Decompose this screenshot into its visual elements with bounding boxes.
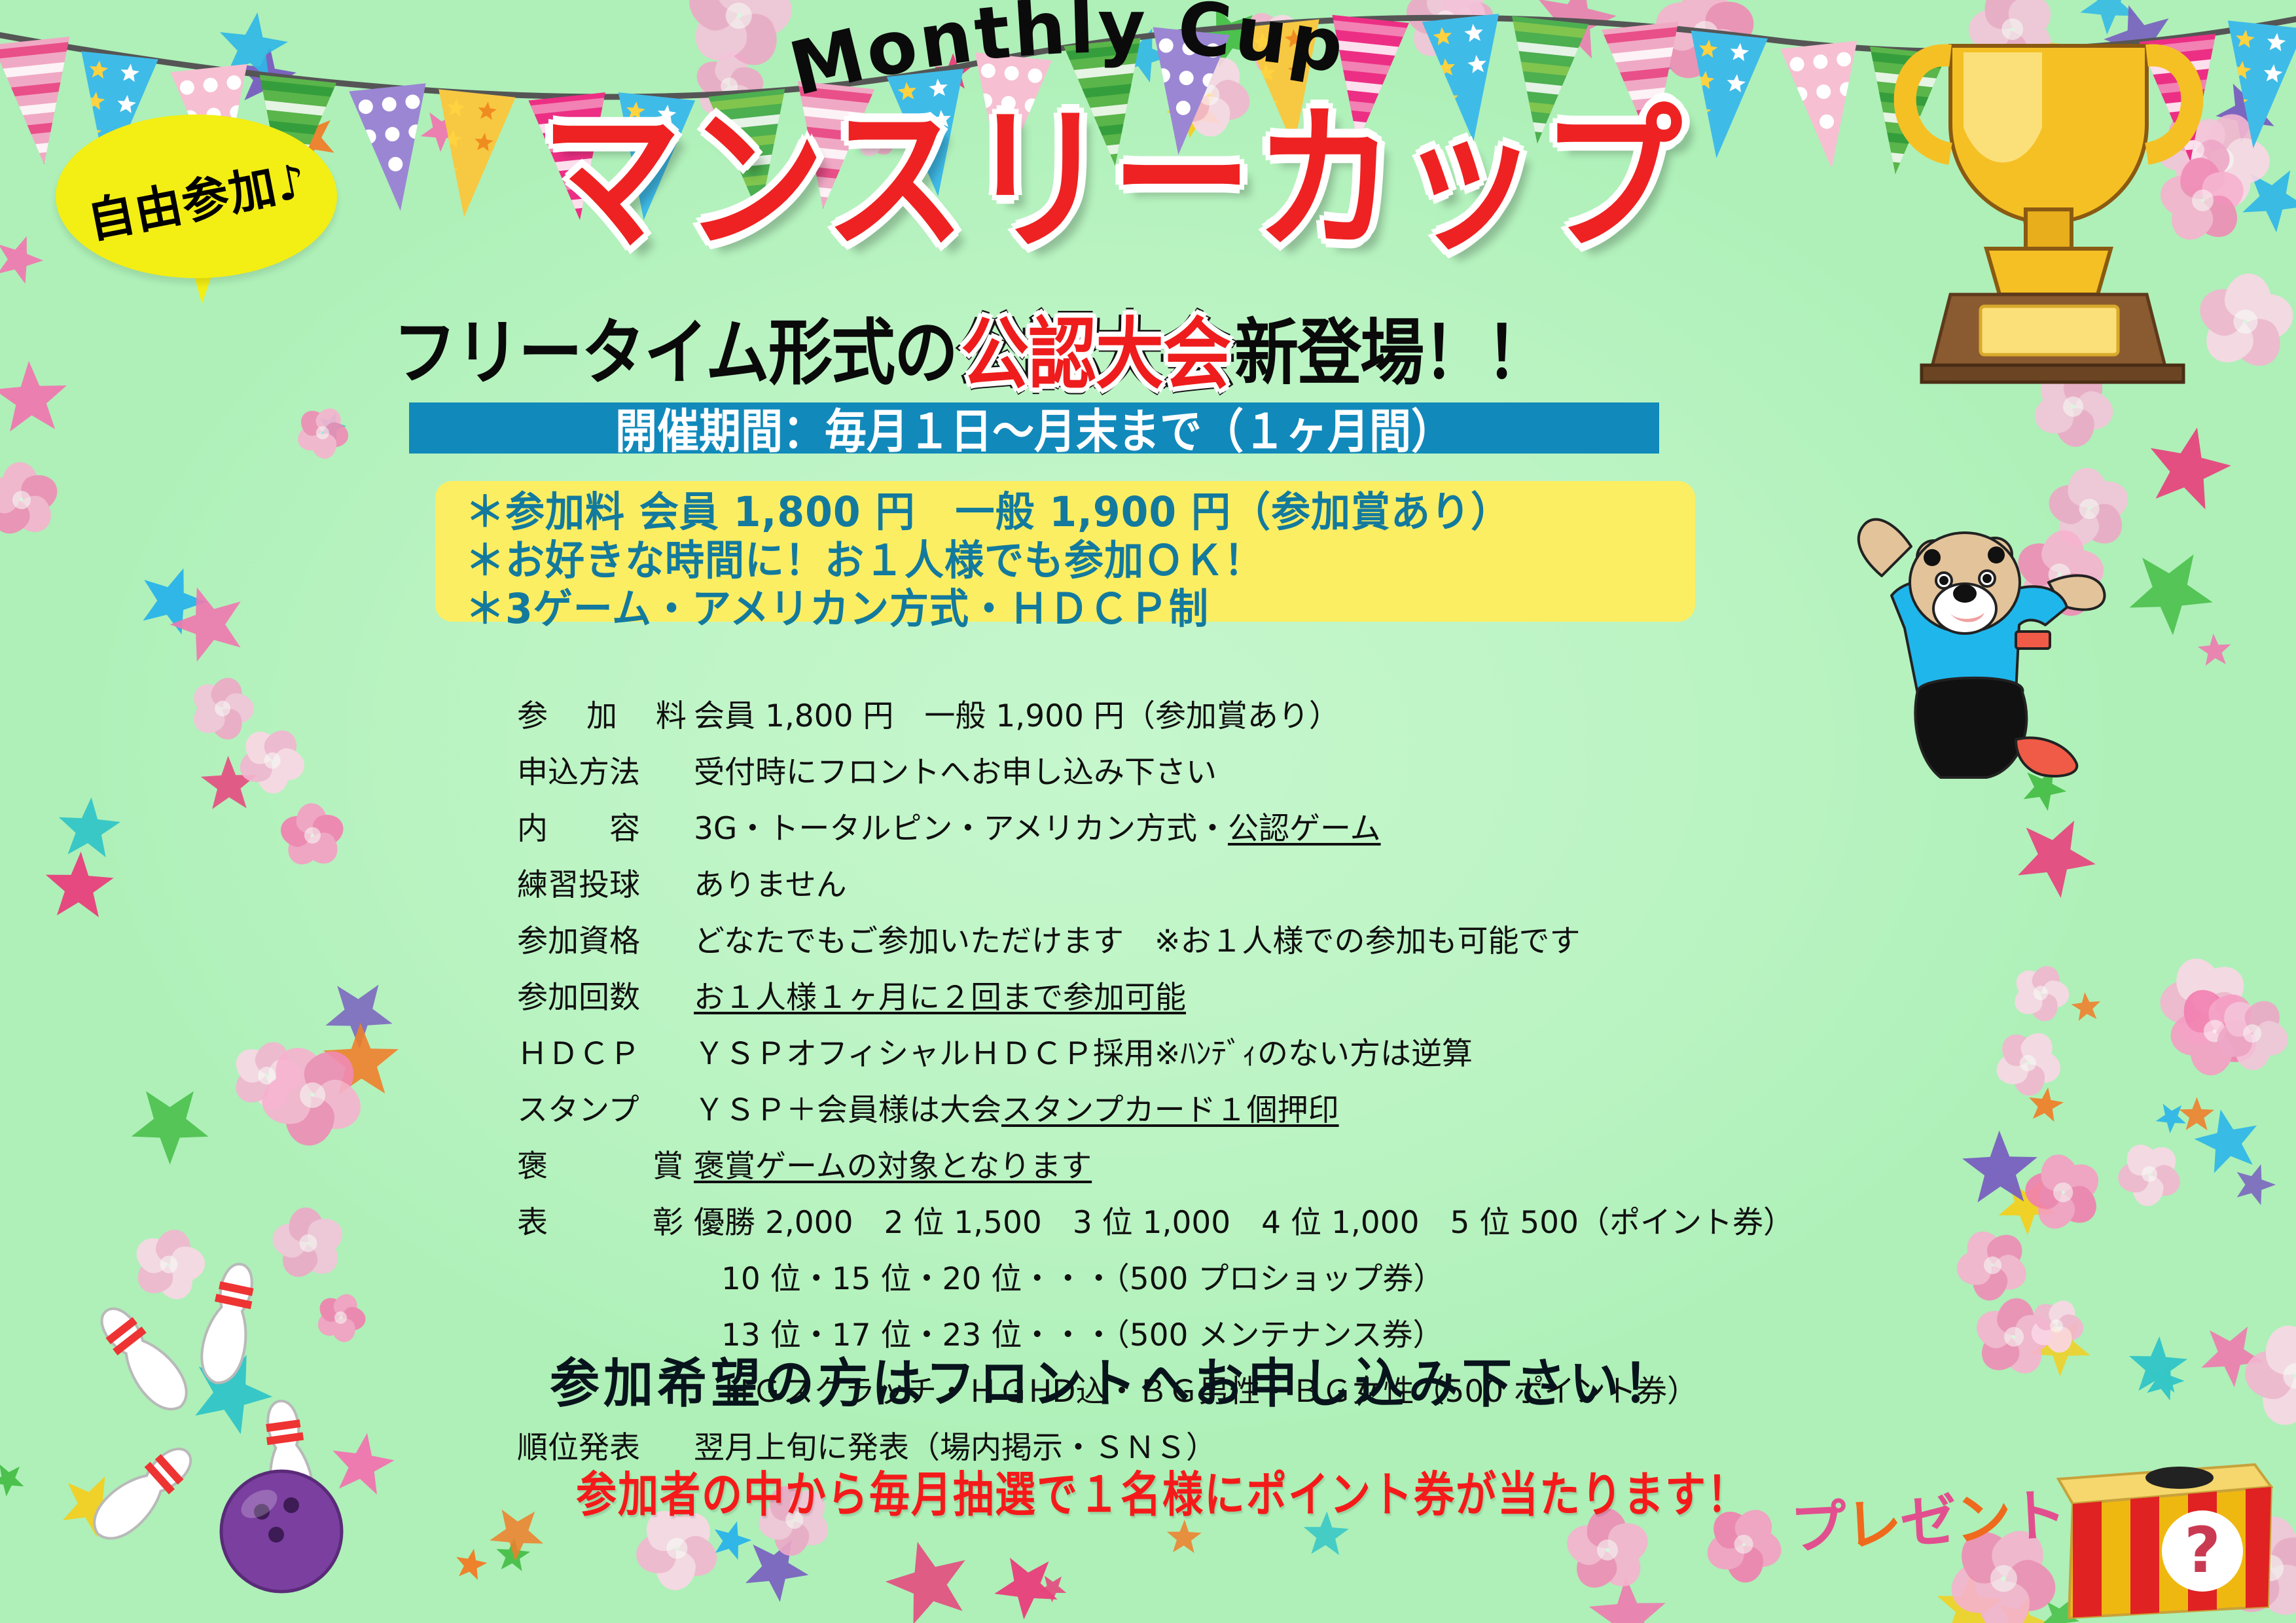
detail-value-underlined: スタンプカード１個押印 — [1001, 1092, 1339, 1128]
detail-value: ありません — [694, 859, 847, 904]
star-decoration — [2134, 416, 2242, 524]
detail-row-eligibility: 参加資格 どなたでもご参加いただけます ※お１人様での参加も可能です — [517, 916, 1826, 961]
detail-value-underlined: 公認ゲーム — [1228, 811, 1381, 847]
bunting-flag — [349, 83, 439, 215]
poster-canvas: Monthly Cup マンスリーカップ 自由参加♪ フリータイム形式の 公認大… — [0, 0, 2296, 1623]
lottery-note: 参加者の中から毎月抽選で１名様にポイント券が当たります！ — [576, 1455, 1885, 1525]
detail-label: 内 容 — [517, 803, 694, 848]
star-decoration — [0, 1454, 33, 1505]
star-decoration — [111, 1065, 228, 1183]
period-banner: 開催期間：毎月１日〜月末まで（１ヶ月間） — [409, 402, 1659, 454]
lottery-box-icon: ? — [2039, 1427, 2281, 1623]
bowling-pins-icon — [65, 1243, 471, 1610]
star-decoration — [0, 344, 87, 456]
detail-row-application: 申込方法 受付時にフロントへお申し込み下さい — [517, 747, 1826, 792]
lottery-box-question-mark: ? — [2184, 1514, 2221, 1587]
call-to-action: 参加希望の方はフロントへお申し込み下さい！ — [550, 1341, 1924, 1418]
subtitle-black-1: フリータイム形式の — [393, 294, 957, 399]
trophy-icon — [1852, 20, 2258, 386]
detail-row-stamp: スタンプ ＹＳＰ＋会員様は大会スタンプカード１個押印 — [517, 1084, 1826, 1130]
sakura-decoration — [2214, 994, 2292, 1073]
present-char: レ — [1843, 1477, 1902, 1561]
sakura-decoration — [266, 789, 359, 882]
detail-value: 3G・トータルピン・アメリカン方式・公認ゲーム — [694, 803, 1381, 848]
sakura-decoration — [2102, 1127, 2197, 1221]
detail-value-plain: 3G・トータルピン・アメリカン方式・ — [694, 811, 1228, 847]
subtitle-red-highlight: 公認大会 — [961, 291, 1230, 403]
detail-label: 褒 賞 — [517, 1141, 694, 1186]
detail-value: 優勝 2,000 2 位 1,500 3 位 1,000 4 位 1,000 5… — [694, 1197, 1794, 1242]
detail-label: 参 加 料 — [517, 690, 694, 736]
present-char: ゼ — [1898, 1474, 1957, 1559]
detail-row-awards: 表 彰 優勝 2,000 2 位 1,500 3 位 1,000 4 位 1,0… — [517, 1197, 1826, 1242]
free-entry-label: 自由参加♪ — [43, 89, 350, 303]
detail-value: ＹＳＰ＋会員様は大会スタンプカード１個押印 — [694, 1084, 1339, 1130]
sakura-decoration — [1999, 951, 2083, 1035]
free-entry-badge: 自由参加♪ — [56, 115, 337, 278]
page-title: マンスリーカップ — [524, 110, 1702, 280]
star-decoration — [979, 1539, 1074, 1623]
star-decoration — [1997, 799, 2113, 916]
present-char: プ — [1788, 1480, 1847, 1565]
detail-label: 参加回数 — [517, 972, 694, 1017]
detail-row-fee: 参 加 料 会員 1,800 円 一般 1,900 円（参加賞あり） — [517, 690, 1826, 736]
detail-label: 練習投球 — [517, 859, 694, 904]
detail-value: 会員 1,800 円 一般 1,900 円（参加賞あり） — [694, 690, 1340, 736]
subtitle-black-2: 新登場！！ — [1234, 294, 1549, 399]
detail-value: 褒賞ゲームの対象となります — [694, 1141, 1092, 1186]
star-decoration — [0, 227, 50, 292]
star-decoration — [2142, 1359, 2185, 1402]
detail-row-practice: 練習投球 ありません — [517, 859, 1826, 904]
spacer — [517, 1253, 694, 1298]
detail-value-plain: ＹＳＰ＋会員様は大会 — [694, 1092, 1001, 1128]
present-char: ン — [1953, 1471, 2012, 1556]
highlight-line-time: ＊お好きな時間に！お１人様でも参加ＯＫ！ — [465, 539, 1695, 583]
title-kana: マンスリーカップ — [541, 101, 1685, 259]
star-decoration — [2115, 536, 2226, 647]
detail-label: スタンプ — [517, 1084, 694, 1130]
awards-continuation-1: 10 位・15 位・20 位・・・（500 プロショップ券） — [517, 1253, 1826, 1298]
detail-row-content: 内 容 3G・トータルピン・アメリカン方式・公認ゲーム — [517, 803, 1826, 848]
sakura-decoration — [286, 397, 359, 470]
detail-label: ＨＤＣＰ — [517, 1028, 694, 1073]
detail-row-hdcp: ＨＤＣＰ ＹＳＰオフィシャルＨＤＣＰ採用※ﾊﾝﾃﾞｨのない方は逆算 — [517, 1028, 1826, 1073]
detail-value: 受付時にフロントへお申し込み下さい — [694, 747, 1217, 792]
detail-row-bonus: 褒 賞 褒賞ゲームの対象となります — [517, 1141, 1826, 1186]
detail-value: ＹＳＰオフィシャルＨＤＣＰ採用※ﾊﾝﾃﾞｨのない方は逆算 — [694, 1028, 1473, 1073]
star-decoration — [476, 1493, 558, 1574]
detail-label: 申込方法 — [517, 747, 694, 792]
star-decoration — [874, 1528, 984, 1623]
detail-value: 10 位・15 位・20 位・・・（500 プロショップ券） — [694, 1253, 1444, 1298]
present-word: プレゼント — [1788, 1469, 2067, 1565]
sakura-decoration — [235, 724, 308, 797]
detail-label: 表 彰 — [517, 1197, 694, 1242]
detail-label: 参加資格 — [517, 916, 694, 961]
detail-value: どなたでもご参加いただけます ※お１人様での参加も可能です — [694, 916, 1580, 961]
subtitle-row: フリータイム形式の 公認大会 新登場！！ — [393, 308, 1898, 386]
period-banner-text: 開催期間：毎月１日〜月末まで（１ヶ月間） — [615, 394, 1453, 461]
detail-value: お１人様１ヶ月に２回まで参加可能 — [694, 972, 1186, 1017]
sakura-decoration — [0, 459, 63, 542]
detail-row-entry-count: 参加回数 お１人様１ヶ月に２回まで参加可能 — [517, 972, 1826, 1017]
highlight-box: ＊参加料 会員 1,800 円 一般 1,900 円（参加賞あり） ＊お好きな時… — [435, 481, 1695, 622]
bear-mascot-icon — [1820, 497, 2127, 779]
highlight-line-format: ＊3ゲーム・アメリカン方式・ＨＤＣＰ制 — [465, 588, 1695, 632]
bunting-flag — [425, 89, 515, 221]
highlight-line-fee: ＊参加料 会員 1,800 円 一般 1,900 円（参加賞あり） — [465, 490, 1695, 534]
